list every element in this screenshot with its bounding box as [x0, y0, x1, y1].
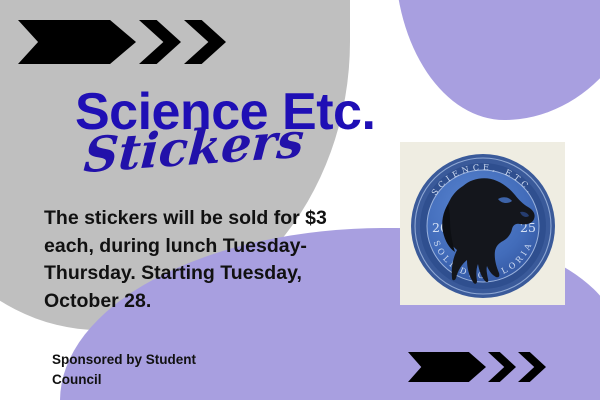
chevron-right-icon [518, 352, 546, 382]
chevron-right-icon [139, 20, 181, 64]
arrow-banner-icon [18, 20, 136, 64]
chevron-right-icon [488, 352, 516, 382]
sticker-badge-graphic: SCIENCE, ETC. SOLI DEO GLORIA 20 25 [400, 142, 565, 305]
arrow-decoration-top [18, 20, 226, 64]
purple-blob-top-shape [395, 0, 600, 120]
body-text: The stickers will be sold for $3 each, d… [44, 205, 364, 316]
flyer-canvas: Science Etc. Stickers The stickers will … [0, 0, 600, 400]
arrow-decoration-bottom [408, 352, 546, 382]
sticker-product-photo: SCIENCE, ETC. SOLI DEO GLORIA 20 25 [400, 142, 565, 305]
chevron-right-icon [184, 20, 226, 64]
sponsor-credit: Sponsored by Student Council [52, 350, 237, 391]
arrow-banner-icon [408, 352, 486, 382]
subtitle-script: Stickers [82, 116, 305, 180]
